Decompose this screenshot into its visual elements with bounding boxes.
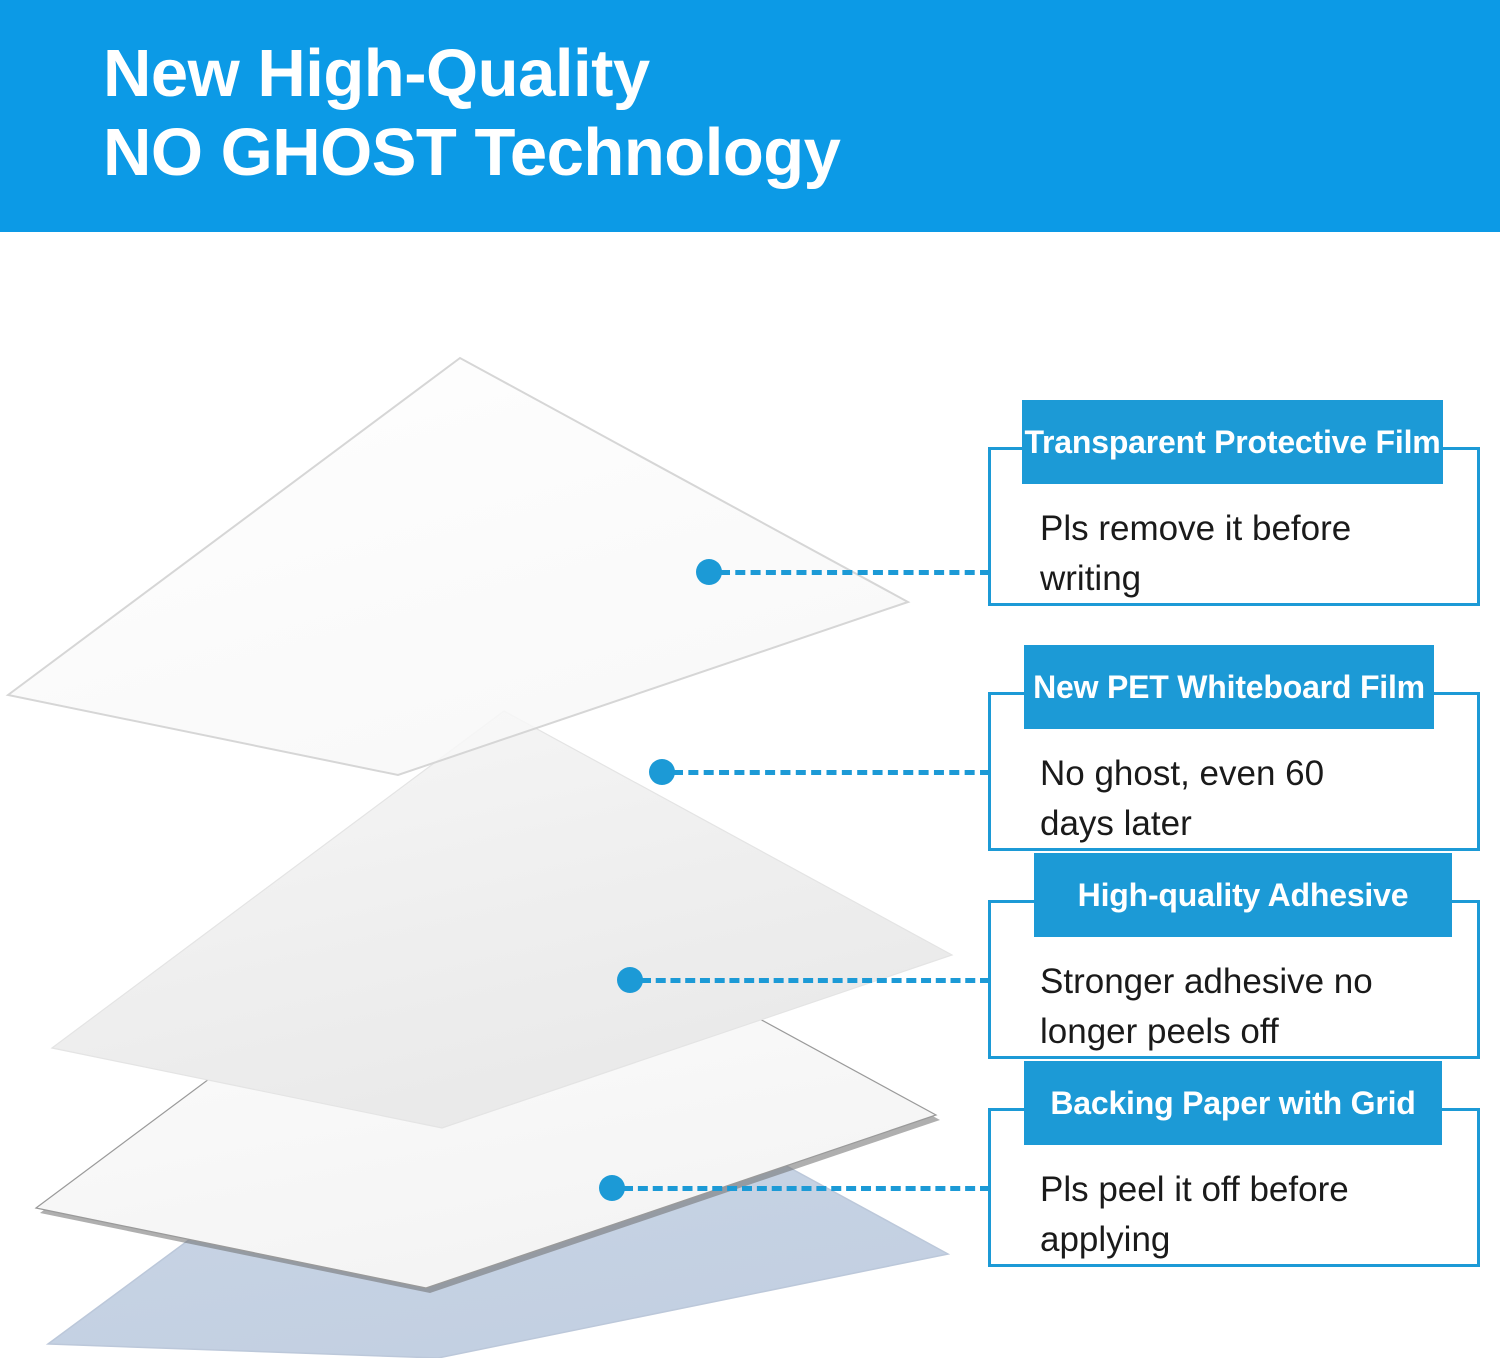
callout-header-1: Transparent Protective Film — [1022, 400, 1443, 484]
leader-dot-2 — [649, 759, 675, 785]
header-banner: New High-Quality NO GHOST Technology — [0, 0, 1500, 232]
page-title: New High-Quality NO GHOST Technology — [103, 34, 1433, 192]
leader-dot-4 — [599, 1175, 625, 1201]
callout-title-2: New PET Whiteboard Film — [1033, 669, 1425, 705]
leader-dot-3 — [617, 967, 643, 993]
callout-body-4: Pls peel it off before applying — [1040, 1165, 1470, 1265]
callout-body-2: No ghost, even 60 days later — [1040, 749, 1470, 849]
callout-high-quality-adhesive: Stronger adhesive no longer peels off Hi… — [988, 853, 1480, 1059]
leader-dot-1 — [696, 559, 722, 585]
leader-dash-2 — [673, 770, 990, 775]
leader-line-new-pet-whiteboard-film — [649, 759, 996, 785]
leader-dash-4 — [623, 1186, 990, 1191]
leader-dash-1 — [720, 570, 990, 575]
callout-title-3: High-quality Adhesive — [1078, 877, 1409, 913]
callout-backing-paper-with-grid: Pls peel it off before applying Backing … — [988, 1061, 1480, 1267]
callout-new-pet-whiteboard-film: No ghost, even 60 days later New PET Whi… — [988, 645, 1480, 851]
leader-line-transparent-protective-film — [696, 559, 996, 585]
infographic-page: New High-Quality NO GHOST Technology — [0, 0, 1500, 1358]
leader-dash-3 — [641, 978, 990, 983]
callout-body-1: Pls remove it before writing — [1040, 504, 1470, 604]
callout-header-2: New PET Whiteboard Film — [1024, 645, 1434, 729]
callout-header-4: Backing Paper with Grid — [1024, 1061, 1442, 1145]
callout-transparent-protective-film: Pls remove it before writing Transparent… — [988, 400, 1480, 606]
callout-header-3: High-quality Adhesive — [1034, 853, 1452, 937]
callout-body-3: Stronger adhesive no longer peels off — [1040, 957, 1470, 1057]
callout-title-1: Transparent Protective Film — [1024, 424, 1440, 460]
callout-title-4: Backing Paper with Grid — [1050, 1085, 1415, 1121]
leader-line-high-quality-adhesive — [617, 967, 996, 993]
leader-line-backing-paper-with-grid — [599, 1175, 996, 1201]
